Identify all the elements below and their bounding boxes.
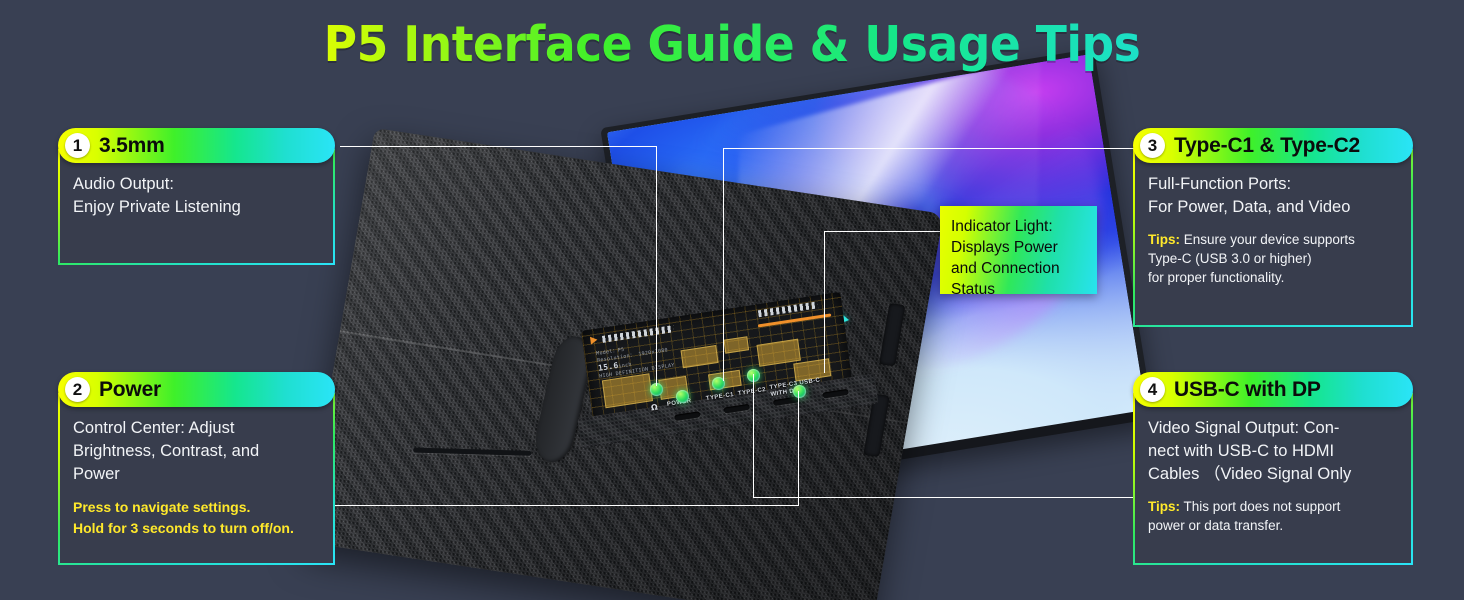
callout-1-title: 3.5mm (99, 134, 165, 158)
indicator-dot-power (676, 390, 689, 403)
indicator-line3: and Connection (951, 258, 1086, 279)
leader-line-4-horizontal (753, 497, 1136, 498)
leader-line-3-horizontal (723, 148, 1136, 149)
leader-line-2-vertical (798, 391, 799, 505)
callout-2-line2: Brightness, Contrast, and (73, 440, 320, 463)
callout-3-tips-label: Tips: (1148, 232, 1180, 247)
indicator-light-box: Indicator Light: Displays Power and Conn… (940, 206, 1097, 294)
callout-4-body: Video Signal Output: Con- nect with USB-… (1133, 393, 1413, 565)
callout-1-badge: 1 (65, 133, 90, 158)
callout-4-line1: Video Signal Output: Con- (1148, 417, 1398, 440)
callout-3-line2: For Power, Data, and Video (1148, 196, 1398, 219)
callout-2-title: Power (99, 378, 161, 402)
callout-2-tip2: Hold for 3 seconds to turn off/on. (73, 518, 320, 539)
callout-4-header: 4 USB-C with DP (1133, 372, 1413, 407)
callout-4-line2: nect with USB-C to HDMI (1148, 440, 1398, 463)
callout-4[interactable]: 4 USB-C with DP Video Signal Output: Con… (1133, 372, 1413, 565)
callout-4-tip1: Tips: This port does not support (1148, 497, 1398, 516)
callout-4-spacer (1148, 486, 1398, 497)
callout-3-tip2: Type-C (USB 3.0 or higher) (1148, 249, 1398, 268)
leader-line-4-vertical (753, 374, 754, 497)
callout-2-header: 2 Power (58, 372, 335, 407)
callout-3-header: 3 Type-C1 & Type-C2 (1133, 128, 1413, 163)
callout-3-tip1-text: Ensure your device supports (1180, 232, 1355, 247)
leader-line-1-horizontal (340, 146, 657, 147)
indicator-line4: Status (951, 279, 1086, 300)
callout-4-line3: Cables （Video Signal Only (1148, 463, 1398, 486)
callout-1-line2: Enjoy Private Listening (73, 196, 320, 219)
callout-4-title: USB-C with DP (1174, 378, 1321, 402)
indicator-line2: Displays Power (951, 237, 1086, 258)
callout-1-line1: Audio Output: (73, 173, 320, 196)
callout-2[interactable]: 2 Power Control Center: Adjust Brightnes… (58, 372, 335, 565)
callout-2-spacer (73, 486, 320, 497)
callout-3-body: Full-Function Ports: For Power, Data, an… (1133, 149, 1413, 327)
leader-line-indicator-vertical (824, 231, 825, 373)
callout-3-badge: 3 (1140, 133, 1165, 158)
callout-2-line1: Control Center: Adjust (73, 417, 320, 440)
indicator-line1: Indicator Light: (951, 216, 1086, 237)
indicator-dot-typec3 (793, 385, 806, 398)
callout-3-tip3: for proper functionality. (1148, 268, 1398, 287)
callout-3[interactable]: 3 Type-C1 & Type-C2 Full-Function Ports:… (1133, 128, 1413, 327)
callout-1-header: 1 3.5mm (58, 128, 335, 163)
callout-2-body: Control Center: Adjust Brightness, Contr… (58, 393, 335, 565)
callout-3-title: Type-C1 & Type-C2 (1174, 134, 1360, 158)
callout-4-tip2: power or data transfer. (1148, 516, 1398, 535)
callout-4-tip1-text: This port does not support (1180, 499, 1340, 514)
callout-2-tip1: Press to navigate settings. (73, 497, 320, 518)
infographic-stage: Model：P5 Resolution： 1920x1080 15.6inch … (0, 0, 1464, 600)
callout-1-body: Audio Output: Enjoy Private Listening (58, 149, 335, 265)
leader-line-3-vertical (723, 148, 724, 381)
leader-line-indicator-horizontal (824, 231, 942, 232)
callout-2-badge: 2 (65, 377, 90, 402)
callout-3-spacer (1148, 219, 1398, 230)
callout-1[interactable]: 1 3.5mm Audio Output: Enjoy Private List… (58, 128, 335, 265)
headphone-jack-icon: Ω (650, 403, 658, 413)
page-title: P5 Interface Guide & Usage Tips (51, 14, 1413, 76)
leader-line-1-vertical (656, 146, 657, 386)
callout-3-tip1: Tips: Ensure your device supports (1148, 230, 1398, 249)
callout-2-line3: Power (73, 463, 320, 486)
callout-3-line1: Full-Function Ports: (1148, 173, 1398, 196)
callout-4-tips-label: Tips: (1148, 499, 1180, 514)
callout-4-badge: 4 (1140, 377, 1165, 402)
leader-line-2-horizontal (333, 505, 799, 506)
neon-arrow-icon (590, 336, 598, 345)
